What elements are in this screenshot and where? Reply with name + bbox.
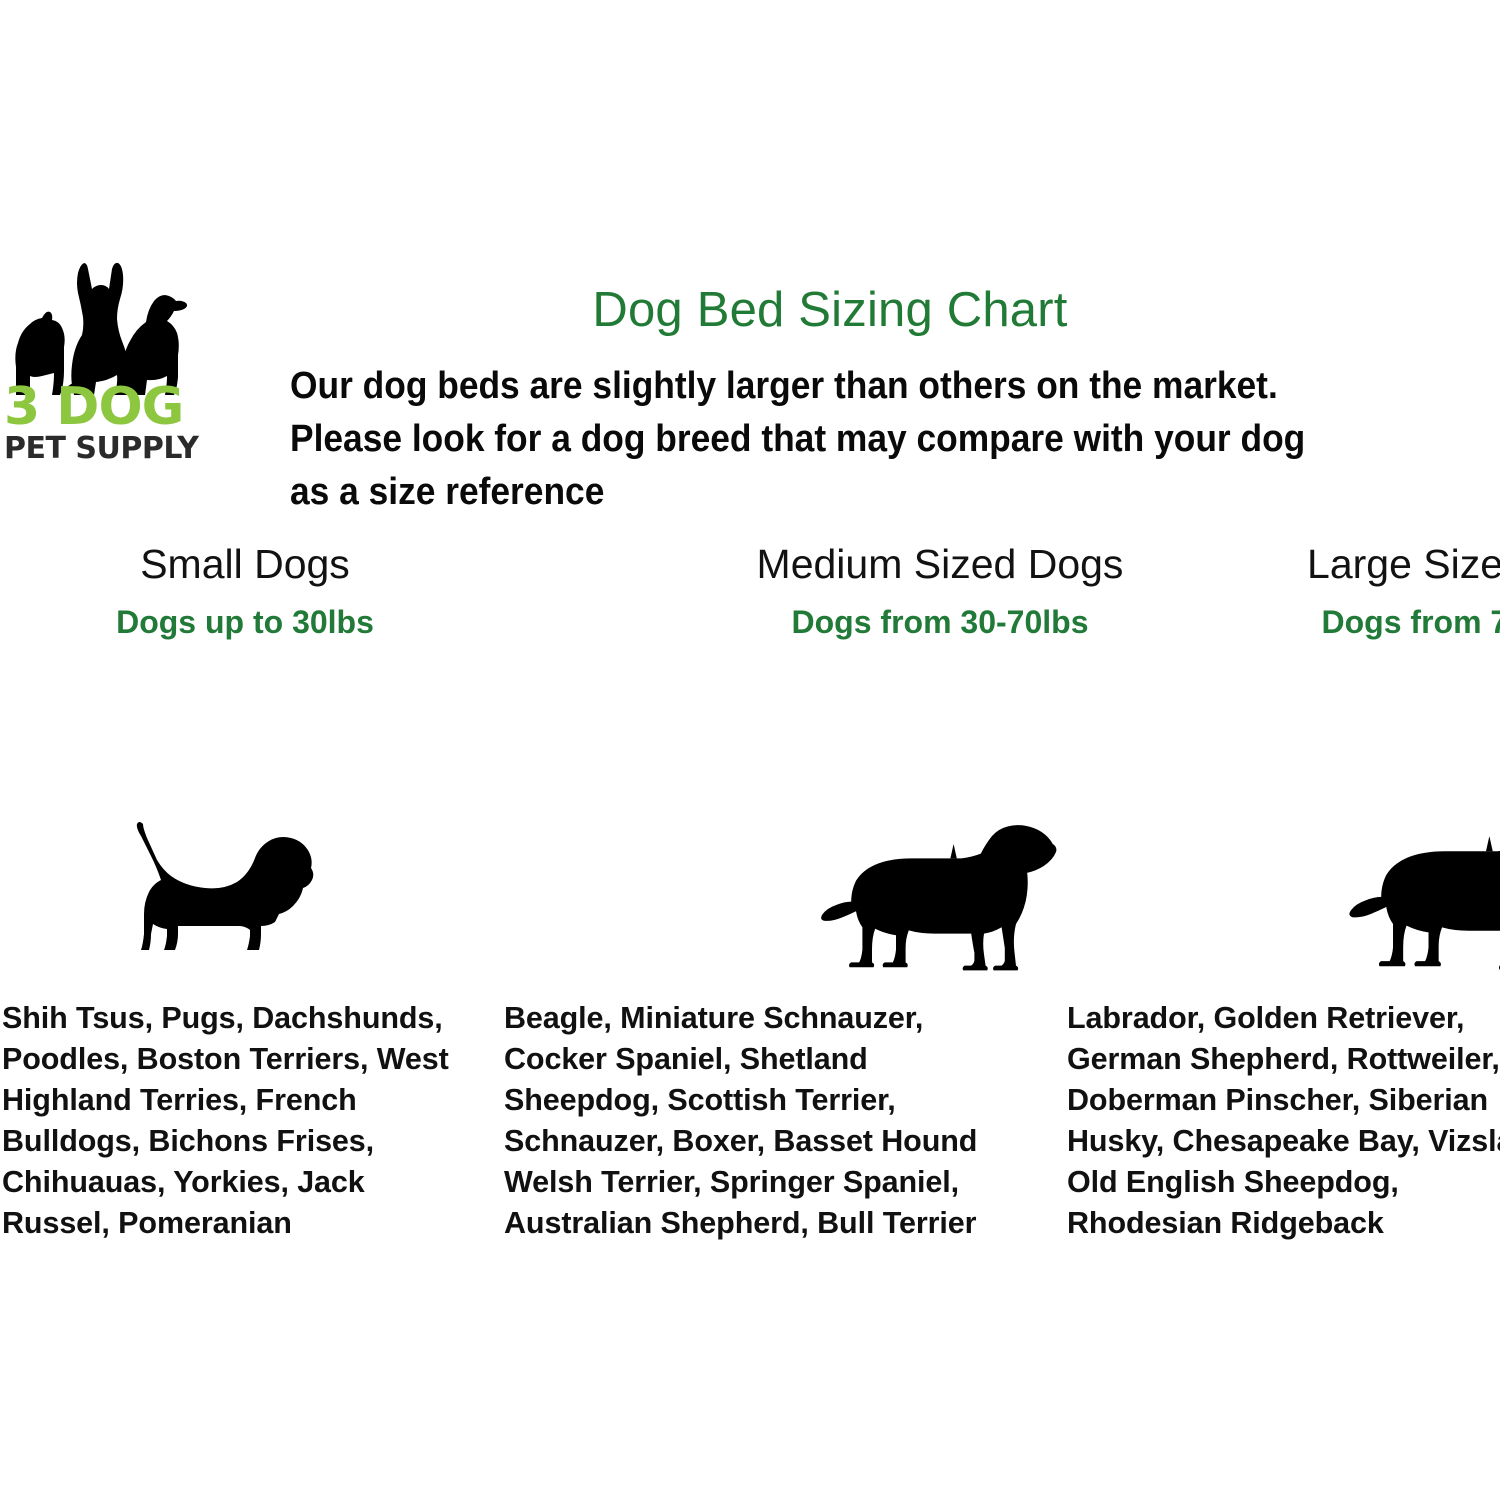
logo-wordmark: 3 DOG PET SUPPLY	[4, 383, 194, 465]
basset-hound-silhouette-icon	[119, 808, 351, 980]
brand-logo: 3 DOG PET SUPPLY	[4, 243, 194, 465]
silhouette-small	[0, 740, 470, 980]
breed-list-small: Shih Tsus, Pugs, Dachshunds, Poodles, Bo…	[2, 998, 452, 1244]
sizing-chart-page: 3 DOG PET SUPPLY Dog Bed Sizing Chart Ou…	[0, 0, 1500, 1500]
logo-line-2: PET SUPPLY	[4, 433, 194, 465]
header: Dog Bed Sizing Chart Our dog beds are sl…	[290, 282, 1370, 519]
breed-list-medium: Beagle, Miniature Schnauzer, Cocker Span…	[504, 998, 984, 1244]
column-medium-dogs: Medium Sized Dogs Dogs from 30-70lbs Bea…	[490, 540, 960, 1300]
column-weight-range-small: Dogs up to 30lbs	[10, 602, 480, 642]
size-columns: Small Dogs Dogs up to 30lbs Shih Tsus, P…	[0, 540, 1500, 1300]
column-heading-small: Small Dogs	[10, 540, 480, 588]
breed-list-large: Labrador, Golden Retriever, German Sheph…	[1067, 998, 1500, 1244]
silhouette-large	[1240, 740, 1500, 980]
retriever-silhouette-icon	[816, 812, 1064, 980]
logo-line-1: 3 DOG	[4, 383, 194, 431]
page-title: Dog Bed Sizing Chart	[290, 282, 1370, 338]
intro-description: Our dog beds are slightly larger than ot…	[290, 360, 1350, 519]
column-small-dogs: Small Dogs Dogs up to 30lbs Shih Tsus, P…	[0, 540, 470, 1300]
column-weight-range-large: Dogs from 70-95lbs	[1235, 602, 1500, 642]
retriever-silhouette-icon	[1344, 802, 1500, 980]
column-large-dogs: Large Sized Dogs Dogs from 70-95lbs Labr…	[1035, 540, 1500, 1300]
column-heading-large: Large Sized Dogs	[1235, 540, 1500, 588]
